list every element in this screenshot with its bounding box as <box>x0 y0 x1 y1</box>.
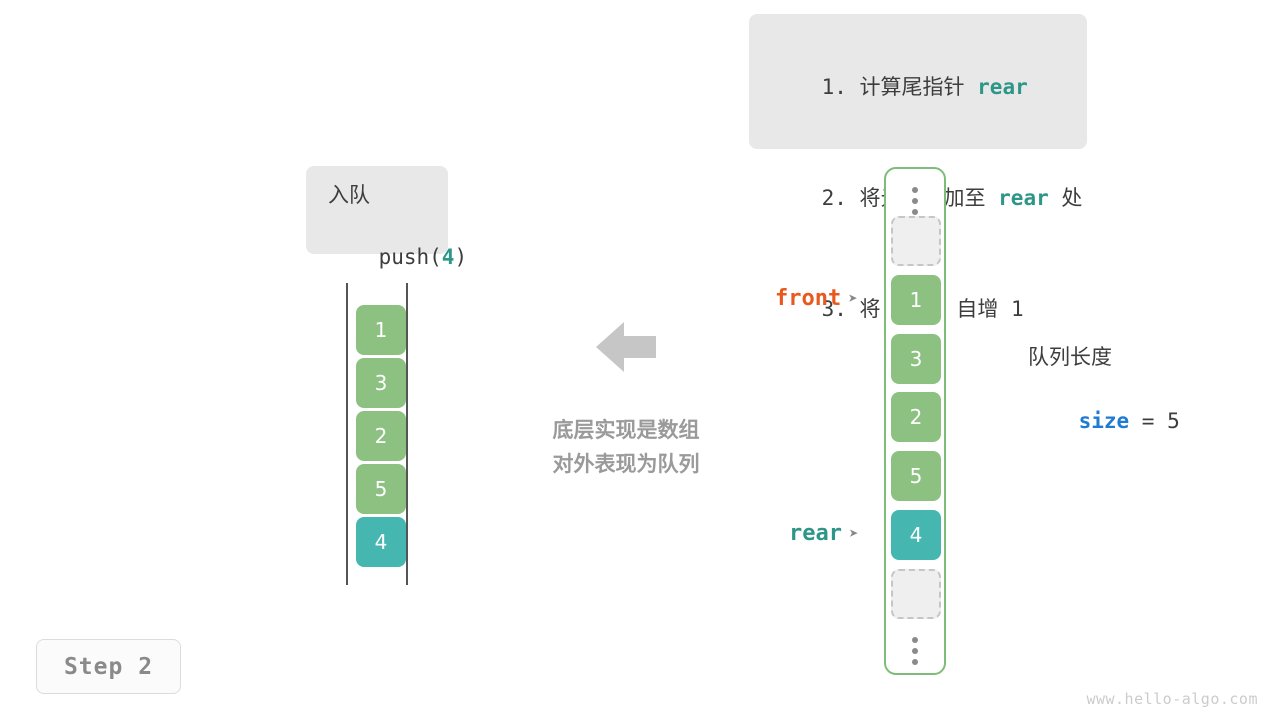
push-operation-title: 入队 <box>328 180 448 211</box>
array-cell: 3 <box>891 334 941 384</box>
dot <box>912 209 918 215</box>
queue-rail-left <box>346 283 348 585</box>
array-cell: 5 <box>891 451 941 501</box>
queue-cell: 1 <box>356 305 406 355</box>
push-call-suffix: ) <box>454 245 467 269</box>
rear-pointer-arrow-icon: ➤ <box>849 526 859 542</box>
step-badge: Step 2 <box>36 639 181 694</box>
left-arrow-icon <box>596 320 656 374</box>
queue-cell: 3 <box>356 358 406 408</box>
size-annotation-title: 队列长度 <box>1028 341 1180 373</box>
array-cell-empty <box>891 216 941 266</box>
vertical-ellipsis-icon-top <box>886 187 944 215</box>
rear-pointer-text: rear <box>789 521 842 546</box>
dot <box>912 187 918 193</box>
array-cell: 2 <box>891 392 941 442</box>
push-operation-box: 入队 push(4) <box>306 166 448 254</box>
front-pointer-arrow-icon: ➤ <box>848 291 858 307</box>
dot <box>912 648 918 654</box>
push-call-value: 4 <box>442 245 455 269</box>
caption-line-1: 底层实现是数组 <box>528 413 724 447</box>
front-pointer-label: front ➤ <box>775 286 858 311</box>
front-pointer-text: front <box>775 286 841 311</box>
size-expression: = 5 <box>1129 409 1180 433</box>
dot <box>912 198 918 204</box>
implementation-caption: 底层实现是数组 对外表现为队列 <box>528 413 724 481</box>
queue-rail-right <box>406 283 408 585</box>
dot <box>912 637 918 643</box>
vertical-ellipsis-icon-bottom <box>886 637 944 665</box>
instruction-line-2-suffix: 处 <box>1049 186 1083 210</box>
dot <box>912 659 918 665</box>
instruction-line-1-prefix: 1. 计算尾指针 <box>822 75 978 99</box>
array-cell: 1 <box>891 275 941 325</box>
size-annotation: 队列长度 size = 5 <box>1028 341 1180 469</box>
size-annotation-value: size = 5 <box>1028 373 1180 469</box>
array-cell-empty <box>891 569 941 619</box>
queue-cell: 5 <box>356 464 406 514</box>
queue-cell: 4 <box>356 517 406 567</box>
instruction-line-1: 1. 计算尾指针 rear <box>771 32 1087 143</box>
queue-cell: 2 <box>356 411 406 461</box>
instruction-box: 1. 计算尾指针 rear 2. 将元素添加至 rear 处 3. 将 size… <box>749 14 1087 149</box>
array-physical-view: 1 3 2 5 4 <box>884 167 946 675</box>
instruction-line-2-keyword: rear <box>998 186 1049 210</box>
size-keyword: size <box>1079 409 1130 433</box>
rear-pointer-label: rear ➤ <box>789 521 859 546</box>
caption-line-2: 对外表现为队列 <box>528 447 724 481</box>
push-call-prefix: push( <box>379 245 442 269</box>
watermark: www.hello-algo.com <box>1086 690 1258 708</box>
queue-logical-view: 1 3 2 5 4 <box>340 283 416 588</box>
instruction-line-1-keyword: rear <box>977 75 1028 99</box>
array-cell: 4 <box>891 510 941 560</box>
instruction-line-3-suffix: 自增 1 <box>944 297 1024 321</box>
